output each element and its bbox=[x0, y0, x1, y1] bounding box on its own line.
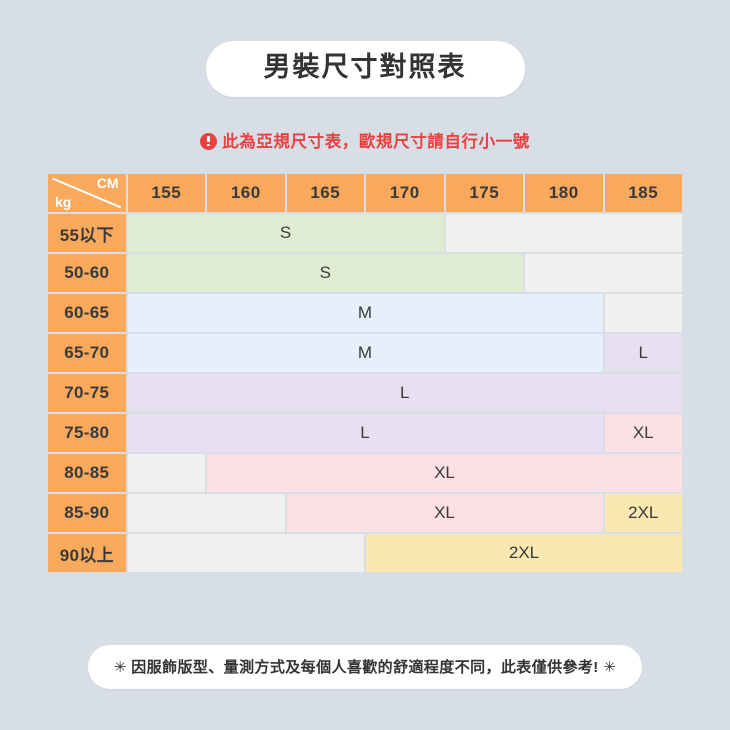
size-cell-s: S bbox=[128, 214, 444, 252]
title-pill: 男裝尺寸對照表 bbox=[206, 41, 525, 97]
notice-row: 此為亞規尺寸表，歐規尺寸請自行小一號 bbox=[0, 128, 730, 152]
size-cell-l: L bbox=[605, 334, 683, 372]
row-header-weight: 90以上 bbox=[48, 534, 126, 572]
table-row: 55以下S bbox=[48, 214, 682, 252]
notice-text: 此為亞規尺寸表，歐規尺寸請自行小一號 bbox=[222, 128, 530, 152]
size-cell-xl: XL bbox=[287, 494, 603, 532]
title-banner: 男裝尺寸對照表 bbox=[0, 41, 730, 97]
column-header-185: 185 bbox=[605, 174, 683, 212]
size-cell-s: S bbox=[128, 254, 524, 292]
column-header-155: 155 bbox=[128, 174, 206, 212]
row-header-weight: 60-65 bbox=[48, 294, 126, 332]
size-cell-2xl: 2XL bbox=[366, 534, 682, 572]
row-header-weight: 85-90 bbox=[48, 494, 126, 532]
size-cell-xl: XL bbox=[605, 414, 683, 452]
size-cell-empty bbox=[128, 454, 206, 492]
table-row: 75-80LXL bbox=[48, 414, 682, 452]
footer-pill: ✳ 因服飾版型、量測方式及每個人喜歡的舒適程度不同，此表僅供參考! ✳ bbox=[88, 645, 642, 689]
table-row: 90以上2XL bbox=[48, 534, 682, 572]
header-corner-cell: CM kg bbox=[48, 174, 126, 212]
size-cell-m: M bbox=[128, 334, 603, 372]
page-title: 男裝尺寸對照表 bbox=[264, 53, 467, 83]
column-header-160: 160 bbox=[207, 174, 285, 212]
corner-kg-label: kg bbox=[55, 195, 71, 209]
footer-banner: ✳ 因服飾版型、量測方式及每個人喜歡的舒適程度不同，此表僅供參考! ✳ bbox=[0, 645, 730, 689]
column-header-170: 170 bbox=[366, 174, 444, 212]
footer-note: ✳ 因服飾版型、量測方式及每個人喜歡的舒適程度不同，此表僅供參考! ✳ bbox=[114, 656, 616, 677]
size-cell-empty bbox=[128, 534, 365, 572]
row-header-weight: 65-70 bbox=[48, 334, 126, 372]
corner-cm-label: CM bbox=[97, 176, 119, 190]
row-header-weight: 70-75 bbox=[48, 374, 126, 412]
exclamation-circle-icon bbox=[200, 133, 217, 150]
size-cell-empty bbox=[446, 214, 683, 252]
size-cell-empty bbox=[128, 494, 285, 532]
table-row: 65-70ML bbox=[48, 334, 682, 372]
row-header-weight: 80-85 bbox=[48, 454, 126, 492]
size-chart-table-wrap: CM kg 155 160 165 170 175 180 185 55以下S5… bbox=[46, 172, 684, 574]
table-row: 70-75L bbox=[48, 374, 682, 412]
row-header-weight: 75-80 bbox=[48, 414, 126, 452]
size-cell-empty bbox=[605, 294, 683, 332]
column-header-180: 180 bbox=[525, 174, 603, 212]
size-cell-2xl: 2XL bbox=[605, 494, 683, 532]
table-row: 60-65M bbox=[48, 294, 682, 332]
table-row: 85-90XL2XL bbox=[48, 494, 682, 532]
size-chart-table: CM kg 155 160 165 170 175 180 185 55以下S5… bbox=[46, 172, 684, 574]
size-cell-xl: XL bbox=[207, 454, 682, 492]
row-header-weight: 50-60 bbox=[48, 254, 126, 292]
column-header-165: 165 bbox=[287, 174, 365, 212]
table-row: 80-85XL bbox=[48, 454, 682, 492]
row-header-weight: 55以下 bbox=[48, 214, 126, 252]
table-header-row: CM kg 155 160 165 170 175 180 185 bbox=[48, 174, 682, 212]
size-cell-empty bbox=[525, 254, 682, 292]
table-row: 50-60S bbox=[48, 254, 682, 292]
table-body: 55以下S50-60S60-65M65-70ML70-75L75-80LXL80… bbox=[48, 214, 682, 572]
table-header: CM kg 155 160 165 170 175 180 185 bbox=[48, 174, 682, 212]
size-cell-l: L bbox=[128, 374, 683, 412]
column-header-175: 175 bbox=[446, 174, 524, 212]
size-cell-m: M bbox=[128, 294, 603, 332]
size-cell-l: L bbox=[128, 414, 603, 452]
